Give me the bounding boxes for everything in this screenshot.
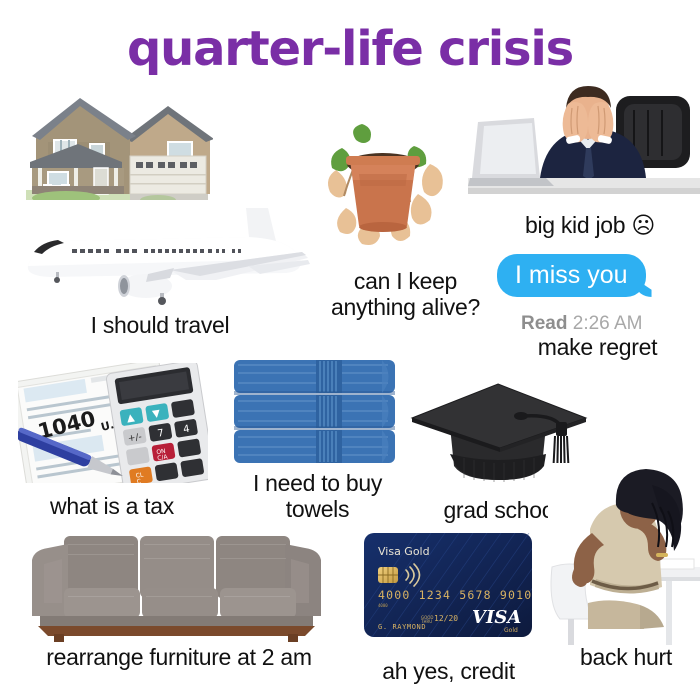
caption-plane: I should travel [60, 312, 260, 338]
caption-back: back hurt [556, 644, 696, 670]
towels-image [232, 358, 397, 468]
card-number: 4000 1234 5678 9010 [378, 588, 532, 602]
card-number-small: 4000 [378, 603, 388, 608]
page-title: quarter-life crisis [0, 23, 700, 75]
caption-couch: rearrange furniture at 2 am [14, 644, 344, 670]
read-label: Read [521, 313, 567, 334]
meme-canvas: quarter-life crisis [0, 0, 700, 700]
caption-plant: can I keep anything alive? [318, 268, 493, 320]
caption-regret: make regret [505, 334, 690, 360]
imessage-bubble-text: I miss you [515, 261, 628, 289]
caption-job: big kid job ☹ [490, 212, 690, 238]
businessman-image [468, 78, 700, 208]
backpain-image [548, 463, 700, 645]
couch-image [24, 528, 329, 643]
svg-text:+/-: +/- [127, 432, 142, 444]
caption-tax: what is a tax [22, 493, 202, 519]
card-expiry: 12/20 [434, 614, 458, 623]
card-holder: G. RAYMOND [378, 623, 426, 631]
card-brand-label: Visa Gold [378, 545, 430, 558]
imessage-read-status: Read 2:26 AM [521, 313, 642, 335]
credit-card-image: Visa Gold 4000 1234 5678 9010 4000 GOOD … [364, 533, 532, 637]
tax-image: 1040 U.S. 7 4 [18, 363, 208, 483]
card-logo-sub: Gold [504, 627, 518, 634]
card-logo: VISA [472, 607, 521, 628]
plant-image [318, 112, 448, 247]
caption-card: ah yes, credit [356, 658, 541, 684]
airplane-image [20, 200, 310, 310]
imessage-bubble[interactable]: I miss you [497, 254, 646, 297]
caption-towels: I need to buy towels [230, 470, 405, 522]
read-time: 2:26 AM [573, 313, 643, 334]
house-image [18, 82, 213, 207]
